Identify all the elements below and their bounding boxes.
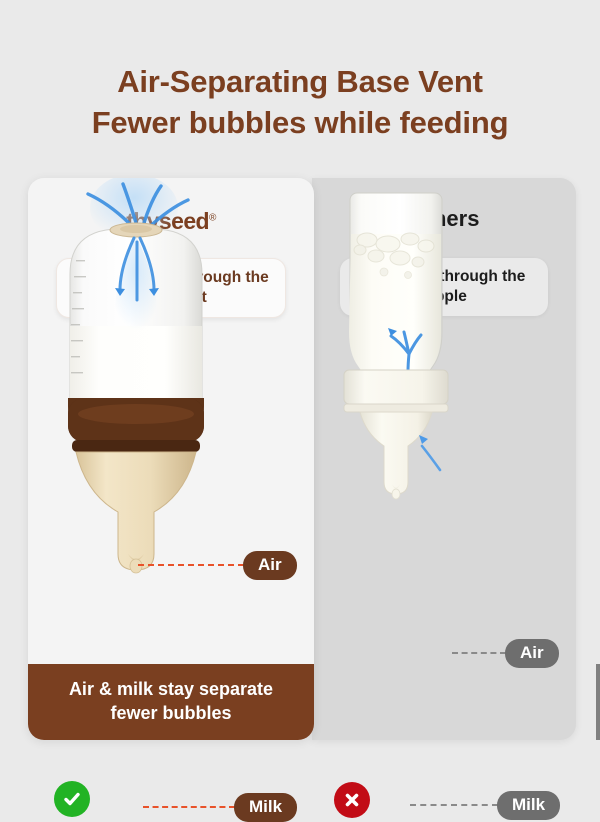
thyseed-caption-line1: Air & milk stay separate — [69, 679, 273, 699]
comparison-panels: Others Air enters through the nipple — [28, 178, 576, 740]
thyseed-milk-tag: Milk — [234, 793, 297, 822]
others-panel: Others Air enters through the nipple — [312, 178, 576, 740]
check-icon — [54, 781, 90, 817]
others-milk-connector — [410, 804, 498, 806]
others-caption: Air mixes into milk more bubbles — [596, 664, 600, 740]
thyseed-panel: thyseed® Air flows back through the base… — [28, 178, 314, 740]
thyseed-caption: Air & milk stay separate fewer bubbles — [28, 664, 314, 740]
thyseed-bottle-illustration — [28, 178, 314, 740]
page-title: Air-Separating Base Vent Fewer bubbles w… — [0, 62, 600, 144]
others-air-tag: Air — [505, 639, 559, 668]
page-title-line2: Fewer bubbles while feeding — [0, 103, 600, 144]
others-air-connector — [452, 652, 506, 654]
page-title-line1: Air-Separating Base Vent — [117, 64, 483, 99]
thyseed-air-tag: Air — [243, 551, 297, 580]
others-milk-tag: Milk — [497, 791, 560, 820]
thyseed-caption-line2: fewer bubbles — [110, 703, 231, 723]
cross-icon — [334, 782, 370, 818]
thyseed-air-connector — [138, 564, 244, 566]
thyseed-milk-connector — [143, 806, 235, 808]
